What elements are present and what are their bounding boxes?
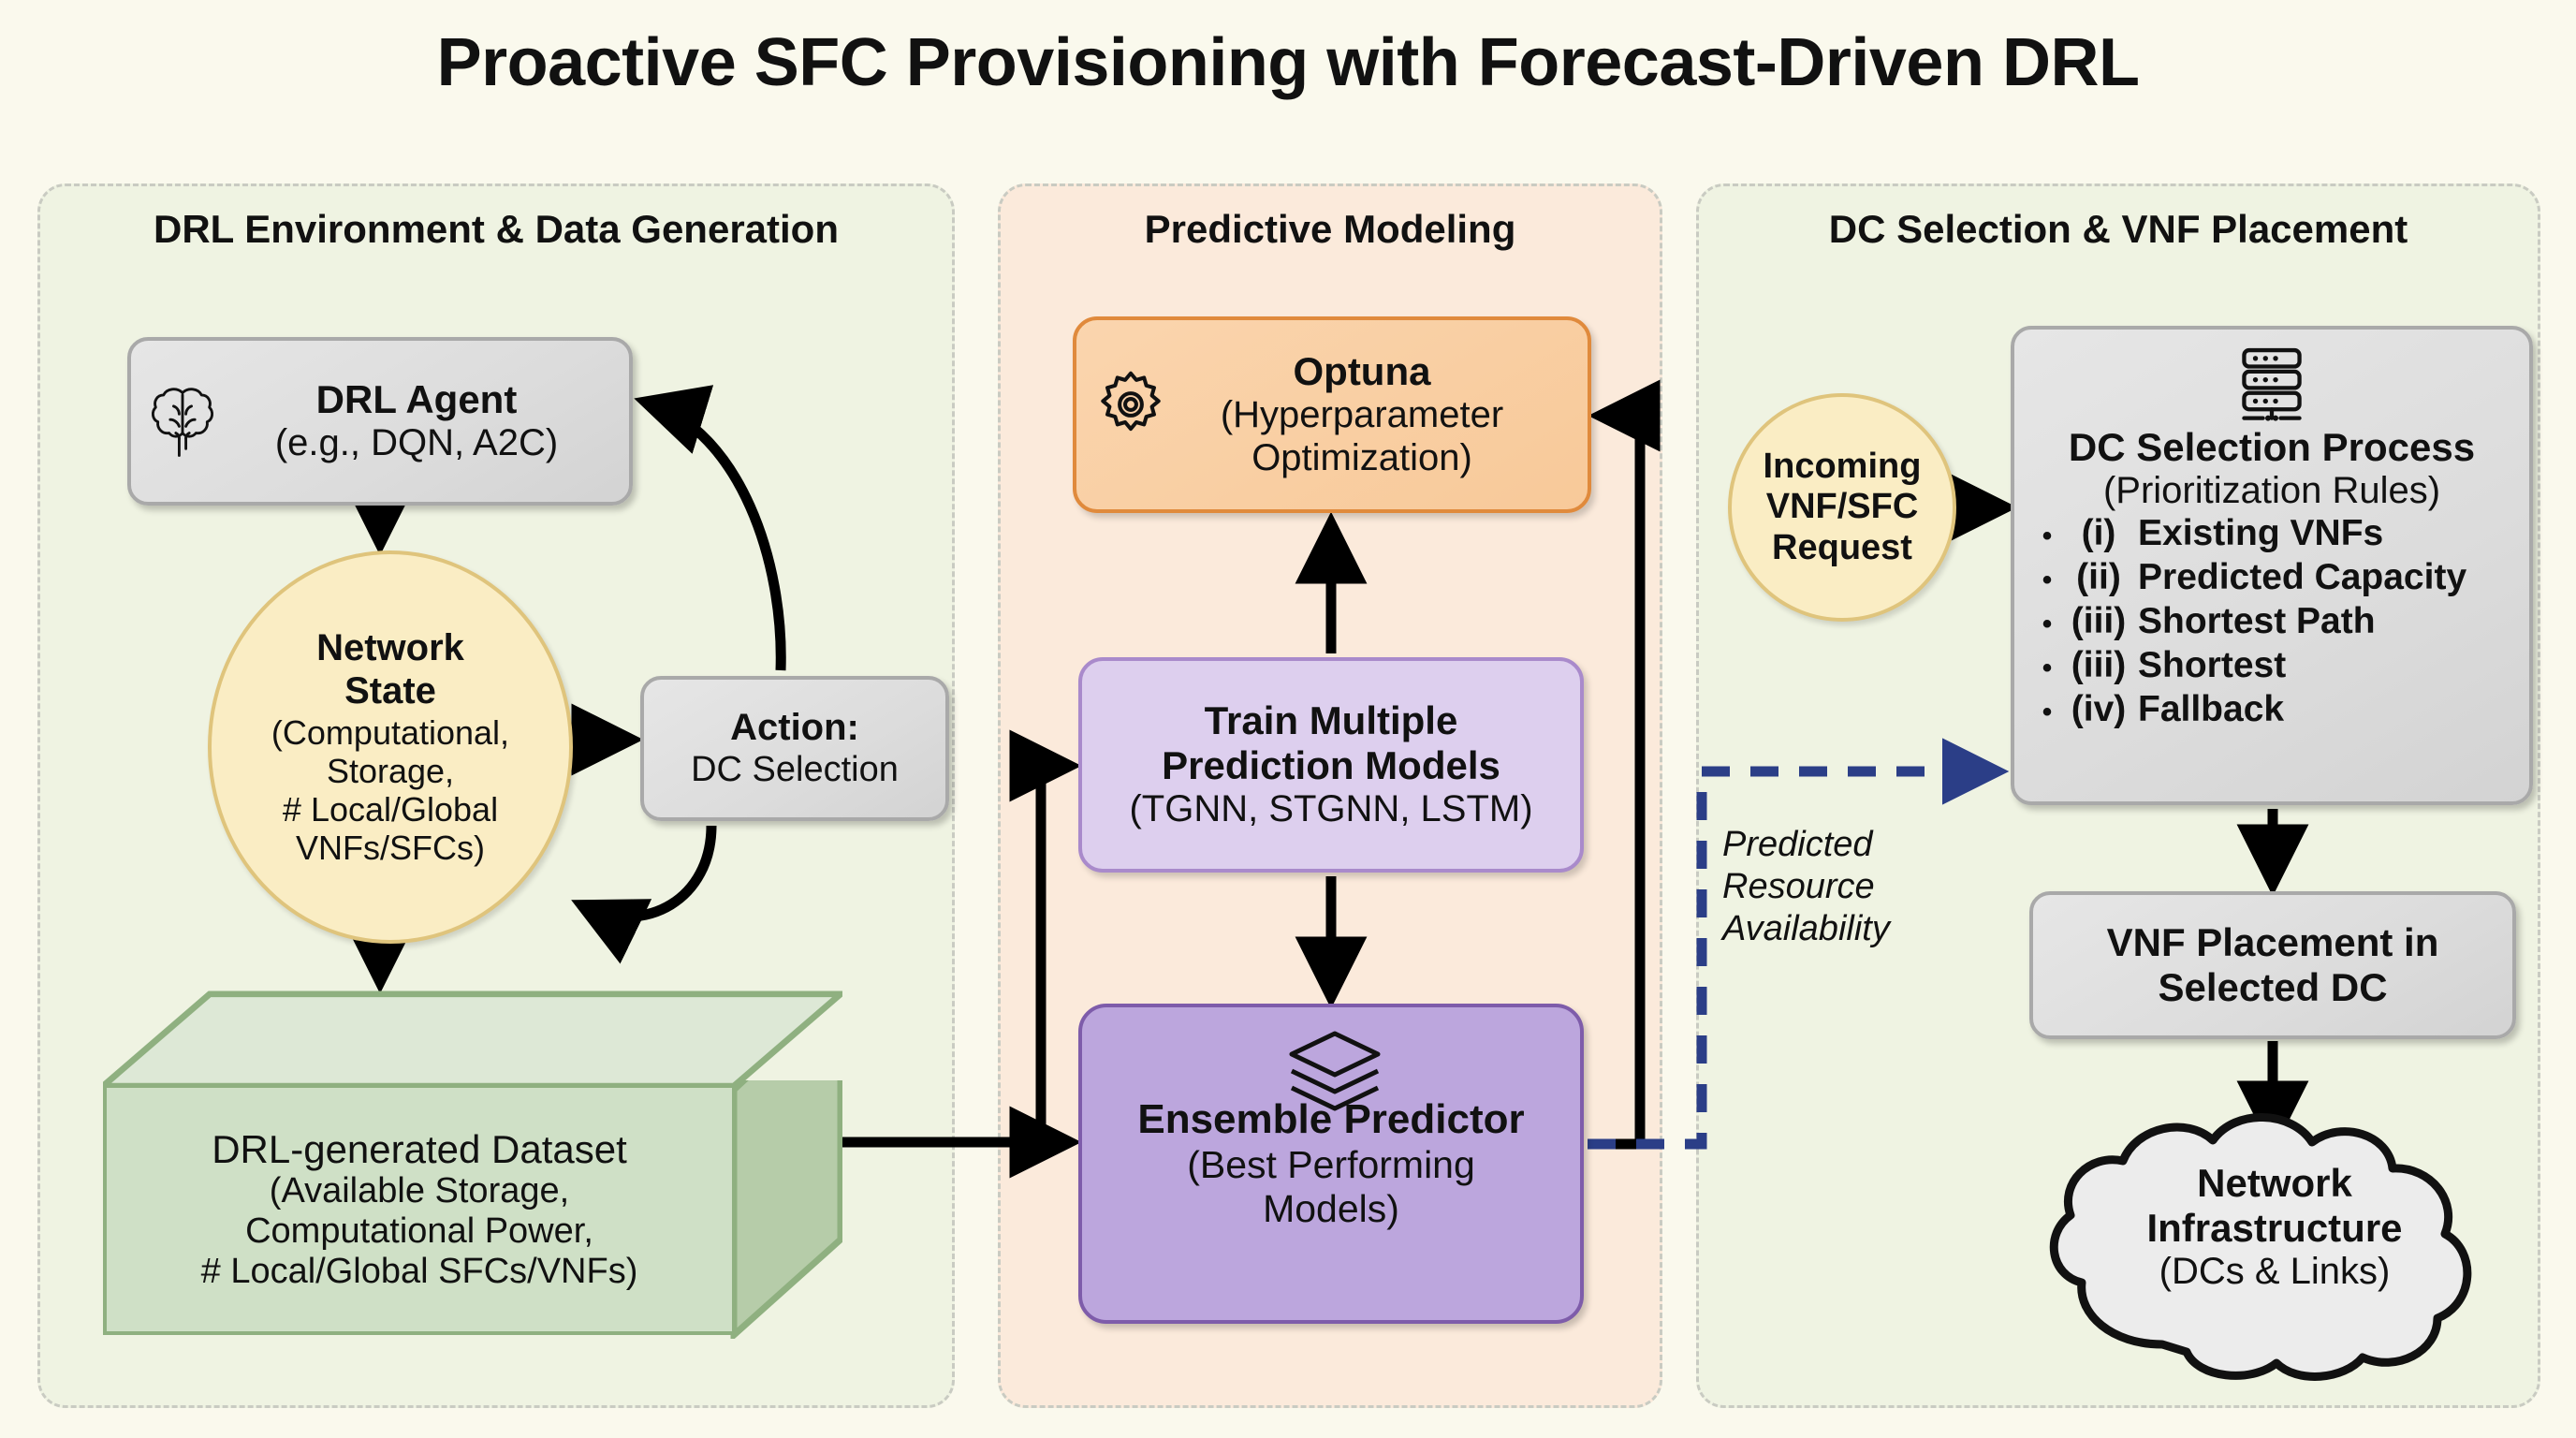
gear-icon — [1095, 369, 1166, 440]
dataset-sub-2: Computational Power, — [245, 1211, 593, 1252]
node-train-prediction-models[interactable]: Train Multiple Prediction Models (TGNN, … — [1078, 657, 1584, 873]
vnf-placement-line-2: Selected DC — [2158, 965, 2387, 1010]
dataset-sub-3: # Local/Global SFCs/VNFs) — [201, 1252, 638, 1292]
cloud-label: Network Infrastructure (DCs & Links) — [2022, 1161, 2527, 1293]
train-models-title-2: Prediction Models — [1162, 743, 1500, 788]
network-state-sub-1: (Computational, — [271, 713, 509, 752]
vnf-placement-line-1: VNF Placement in — [2107, 920, 2439, 965]
dc-rule-item: • (iii) Shortest — [2014, 644, 2529, 688]
optuna-sub-1: (Hyperparameter — [1221, 394, 1503, 437]
dataset-prism-side-face — [730, 1080, 842, 1339]
bullet-icon: • — [2035, 608, 2059, 641]
predicted-label-line2: Resource — [1722, 866, 1966, 908]
node-dc-selection-process[interactable]: DC Selection Process (Prioritization Rul… — [2011, 326, 2533, 805]
dc-rule-item: • (i) Existing VNFs — [2014, 512, 2529, 556]
bullet-icon: • — [2035, 652, 2059, 685]
incoming-line-3: Request — [1772, 528, 1912, 568]
network-state-title-2: State — [344, 670, 436, 713]
panel-right-title: DC Selection & VNF Placement — [1699, 207, 2538, 252]
cloud-subtitle: (DCs & Links) — [2022, 1251, 2527, 1294]
dc-rule-number: (i) — [2059, 512, 2138, 556]
network-state-sub-3: # Local/Global — [283, 790, 498, 829]
dc-rule-number: (iv) — [2059, 688, 2138, 732]
dc-rule-item: • (iv) Fallback — [2014, 688, 2529, 732]
node-network-infrastructure-cloud[interactable]: Network Infrastructure (DCs & Links) — [2022, 1103, 2527, 1384]
bullet-icon: • — [2035, 696, 2059, 729]
ensemble-sub-2: Models) — [1263, 1187, 1399, 1231]
dc-rule-label: Existing VNFs — [2138, 512, 2383, 556]
dc-rule-label: Fallback — [2138, 688, 2284, 732]
dataset-sub-1: (Available Storage, — [270, 1171, 569, 1211]
dc-rule-label: Shortest Path — [2138, 600, 2376, 644]
incoming-line-1: Incoming — [1764, 447, 1922, 487]
dataset-prism-top-face — [103, 990, 842, 1088]
bullet-icon: • — [2035, 564, 2059, 597]
incoming-line-2: VNF/SFC — [1766, 487, 1919, 527]
dc-rule-item: • (ii) Predicted Capacity — [2014, 556, 2529, 600]
server-rack-icon — [2232, 343, 2312, 423]
panel-mid-title: Predictive Modeling — [1001, 207, 1660, 252]
optuna-title: Optuna — [1294, 349, 1431, 394]
dataset-prism-front-face: DRL-generated Dataset (Available Storage… — [103, 1084, 736, 1335]
network-state-sub-2: Storage, — [327, 752, 454, 790]
dc-rule-number: (ii) — [2059, 556, 2138, 600]
node-network-state[interactable]: Network State (Computational, Storage, #… — [208, 550, 573, 944]
drl-agent-title: DRL Agent — [316, 377, 518, 422]
drl-agent-subtitle: (e.g., DQN, A2C) — [275, 422, 558, 465]
node-drl-agent[interactable]: DRL Agent (e.g., DQN, A2C) — [127, 337, 633, 506]
node-action-dc-selection[interactable]: Action: DC Selection — [640, 676, 949, 821]
node-ensemble-predictor[interactable]: Ensemble Predictor (Best Performing Mode… — [1078, 1004, 1584, 1324]
cloud-line-2: Infrastructure — [2022, 1206, 2527, 1251]
dc-selection-subtitle: (Prioritization Rules) — [2014, 470, 2529, 513]
diagram-canvas: Proactive SFC Provisioning with Forecast… — [0, 0, 2576, 1438]
dataset-title: DRL-generated Dataset — [212, 1127, 627, 1171]
node-incoming-request[interactable]: Incoming VNF/SFC Request — [1728, 393, 1956, 622]
action-subtitle: DC Selection — [691, 750, 899, 790]
network-state-title-1: Network — [316, 627, 464, 670]
panel-left-title: DRL Environment & Data Generation — [40, 207, 952, 252]
page-title: Proactive SFC Provisioning with Forecast… — [0, 24, 2576, 101]
dc-rule-number: (iii) — [2059, 600, 2138, 644]
predicted-label-line3: Availability — [1722, 908, 1966, 950]
dc-selection-title: DC Selection Process — [2014, 425, 2529, 470]
predicted-label-line1: Predicted — [1722, 824, 1966, 866]
train-models-subtitle: (TGNN, STGNN, LSTM) — [1129, 788, 1532, 831]
dc-rule-number: (iii) — [2059, 644, 2138, 688]
brain-icon — [146, 384, 219, 464]
dc-rule-item: • (iii) Shortest Path — [2014, 600, 2529, 644]
node-drl-generated-dataset[interactable]: DRL-generated Dataset (Available Storage… — [103, 990, 842, 1337]
node-optuna[interactable]: Optuna (Hyperparameter Optimization) — [1073, 316, 1591, 513]
layers-stack-icon — [1286, 1028, 1383, 1118]
dc-rule-label: Shortest — [2138, 644, 2286, 688]
edge-label-predicted-resource-availability: Predicted Resource Availability — [1722, 824, 1966, 949]
network-state-sub-4: VNFs/SFCs) — [296, 829, 485, 867]
ensemble-sub-1: (Best Performing — [1187, 1143, 1475, 1187]
action-title: Action: — [730, 707, 859, 750]
dc-rule-label: Predicted Capacity — [2138, 556, 2466, 600]
optuna-sub-2: Optimization) — [1251, 437, 1472, 480]
node-vnf-placement[interactable]: VNF Placement in Selected DC — [2029, 891, 2516, 1039]
cloud-line-1: Network — [2022, 1161, 2527, 1206]
train-models-title-1: Train Multiple — [1205, 698, 1458, 743]
bullet-icon: • — [2035, 520, 2059, 553]
